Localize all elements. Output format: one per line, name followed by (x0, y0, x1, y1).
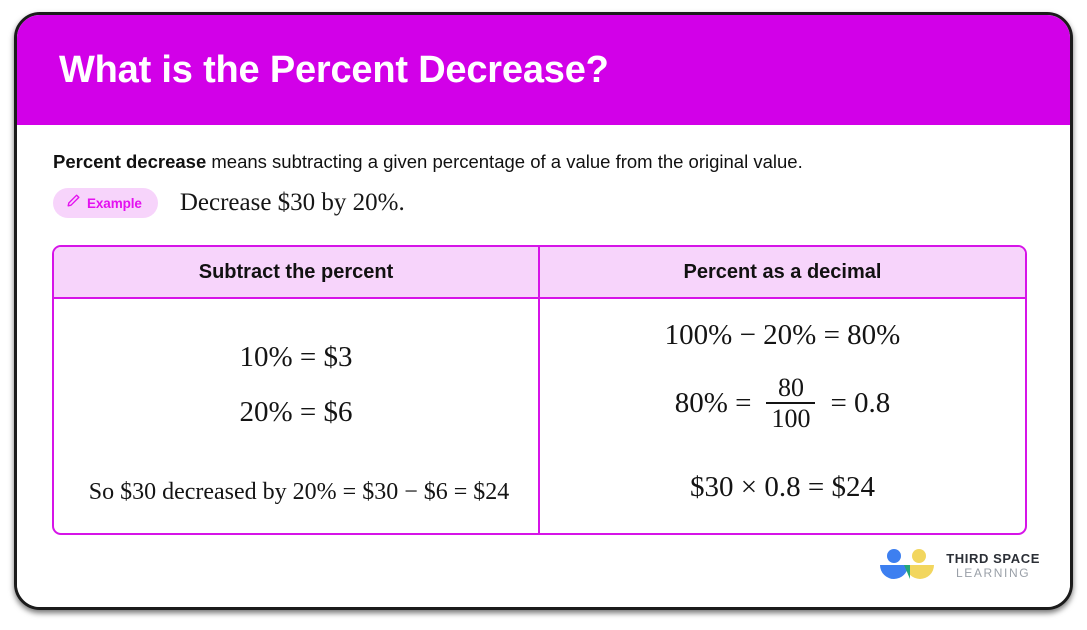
screenshot-root: What is the Percent Decrease? Percent de… (0, 0, 1087, 630)
column-header-percent-as-a-decimal: Percent as a decimal (540, 247, 1025, 297)
example-badge: Example (53, 188, 158, 218)
card-body: Percent decrease means subtracting a giv… (17, 125, 1070, 607)
table-body-row: 10% = $3 20% = $6 So $30 decreased by 20… (54, 299, 1025, 533)
left-equation-1: 10% = $3 (54, 341, 538, 374)
right-equation-2-rhs: = 0.8 (830, 387, 890, 420)
definition-term: Percent decrease (53, 151, 206, 172)
column-header-subtract-the-percent: Subtract the percent (54, 247, 540, 297)
cell-percent-as-a-decimal: 100% − 20% = 80% 80% = 80 100 = 0.8 $30 … (540, 299, 1025, 533)
fraction-numerator: 80 (773, 374, 809, 402)
left-conclusion: So $30 decreased by 20% = $30 − $6 = $24 (62, 479, 536, 506)
example-badge-label: Example (87, 196, 142, 211)
definition-rest: means subtracting a given percentage of … (206, 151, 802, 172)
brand-logo: THIRD SPACE LEARNING (879, 549, 1040, 583)
page-title: What is the Percent Decrease? (17, 49, 609, 92)
definition-text: Percent decrease means subtracting a giv… (53, 151, 803, 173)
third-space-learning-mark-icon (879, 549, 935, 583)
brand-name: THIRD SPACE LEARNING (946, 552, 1040, 580)
right-equation-2: 80% = 80 100 = 0.8 (540, 374, 1025, 433)
cell-subtract-the-percent: 10% = $3 20% = $6 So $30 decreased by 20… (54, 299, 540, 533)
card-header: What is the Percent Decrease? (17, 15, 1070, 125)
logo-head-yellow-icon (912, 549, 926, 563)
example-statement: Decrease $30 by 20%. (180, 189, 405, 217)
table-header-row: Subtract the percent Percent as a decima… (54, 247, 1025, 299)
brand-name-secondary: LEARNING (946, 567, 1040, 580)
methods-table: Subtract the percent Percent as a decima… (52, 245, 1027, 535)
logo-head-blue-icon (887, 549, 901, 563)
brand-name-primary: THIRD SPACE (946, 552, 1040, 567)
left-equation-2: 20% = $6 (54, 396, 538, 429)
right-equation-1: 100% − 20% = 80% (540, 319, 1025, 352)
logo-wedge-green-icon (904, 565, 910, 579)
right-equation-3: $30 × 0.8 = $24 (540, 471, 1025, 504)
logo-body-yellow-icon (906, 565, 934, 579)
fraction-80-over-100: 80 100 (766, 374, 815, 433)
example-row: Example Decrease $30 by 20%. (53, 188, 405, 218)
fraction-denominator: 100 (766, 404, 815, 432)
pencil-icon (66, 193, 81, 213)
right-equation-2-lhs: 80% = (675, 387, 752, 420)
lesson-card: What is the Percent Decrease? Percent de… (14, 12, 1073, 610)
